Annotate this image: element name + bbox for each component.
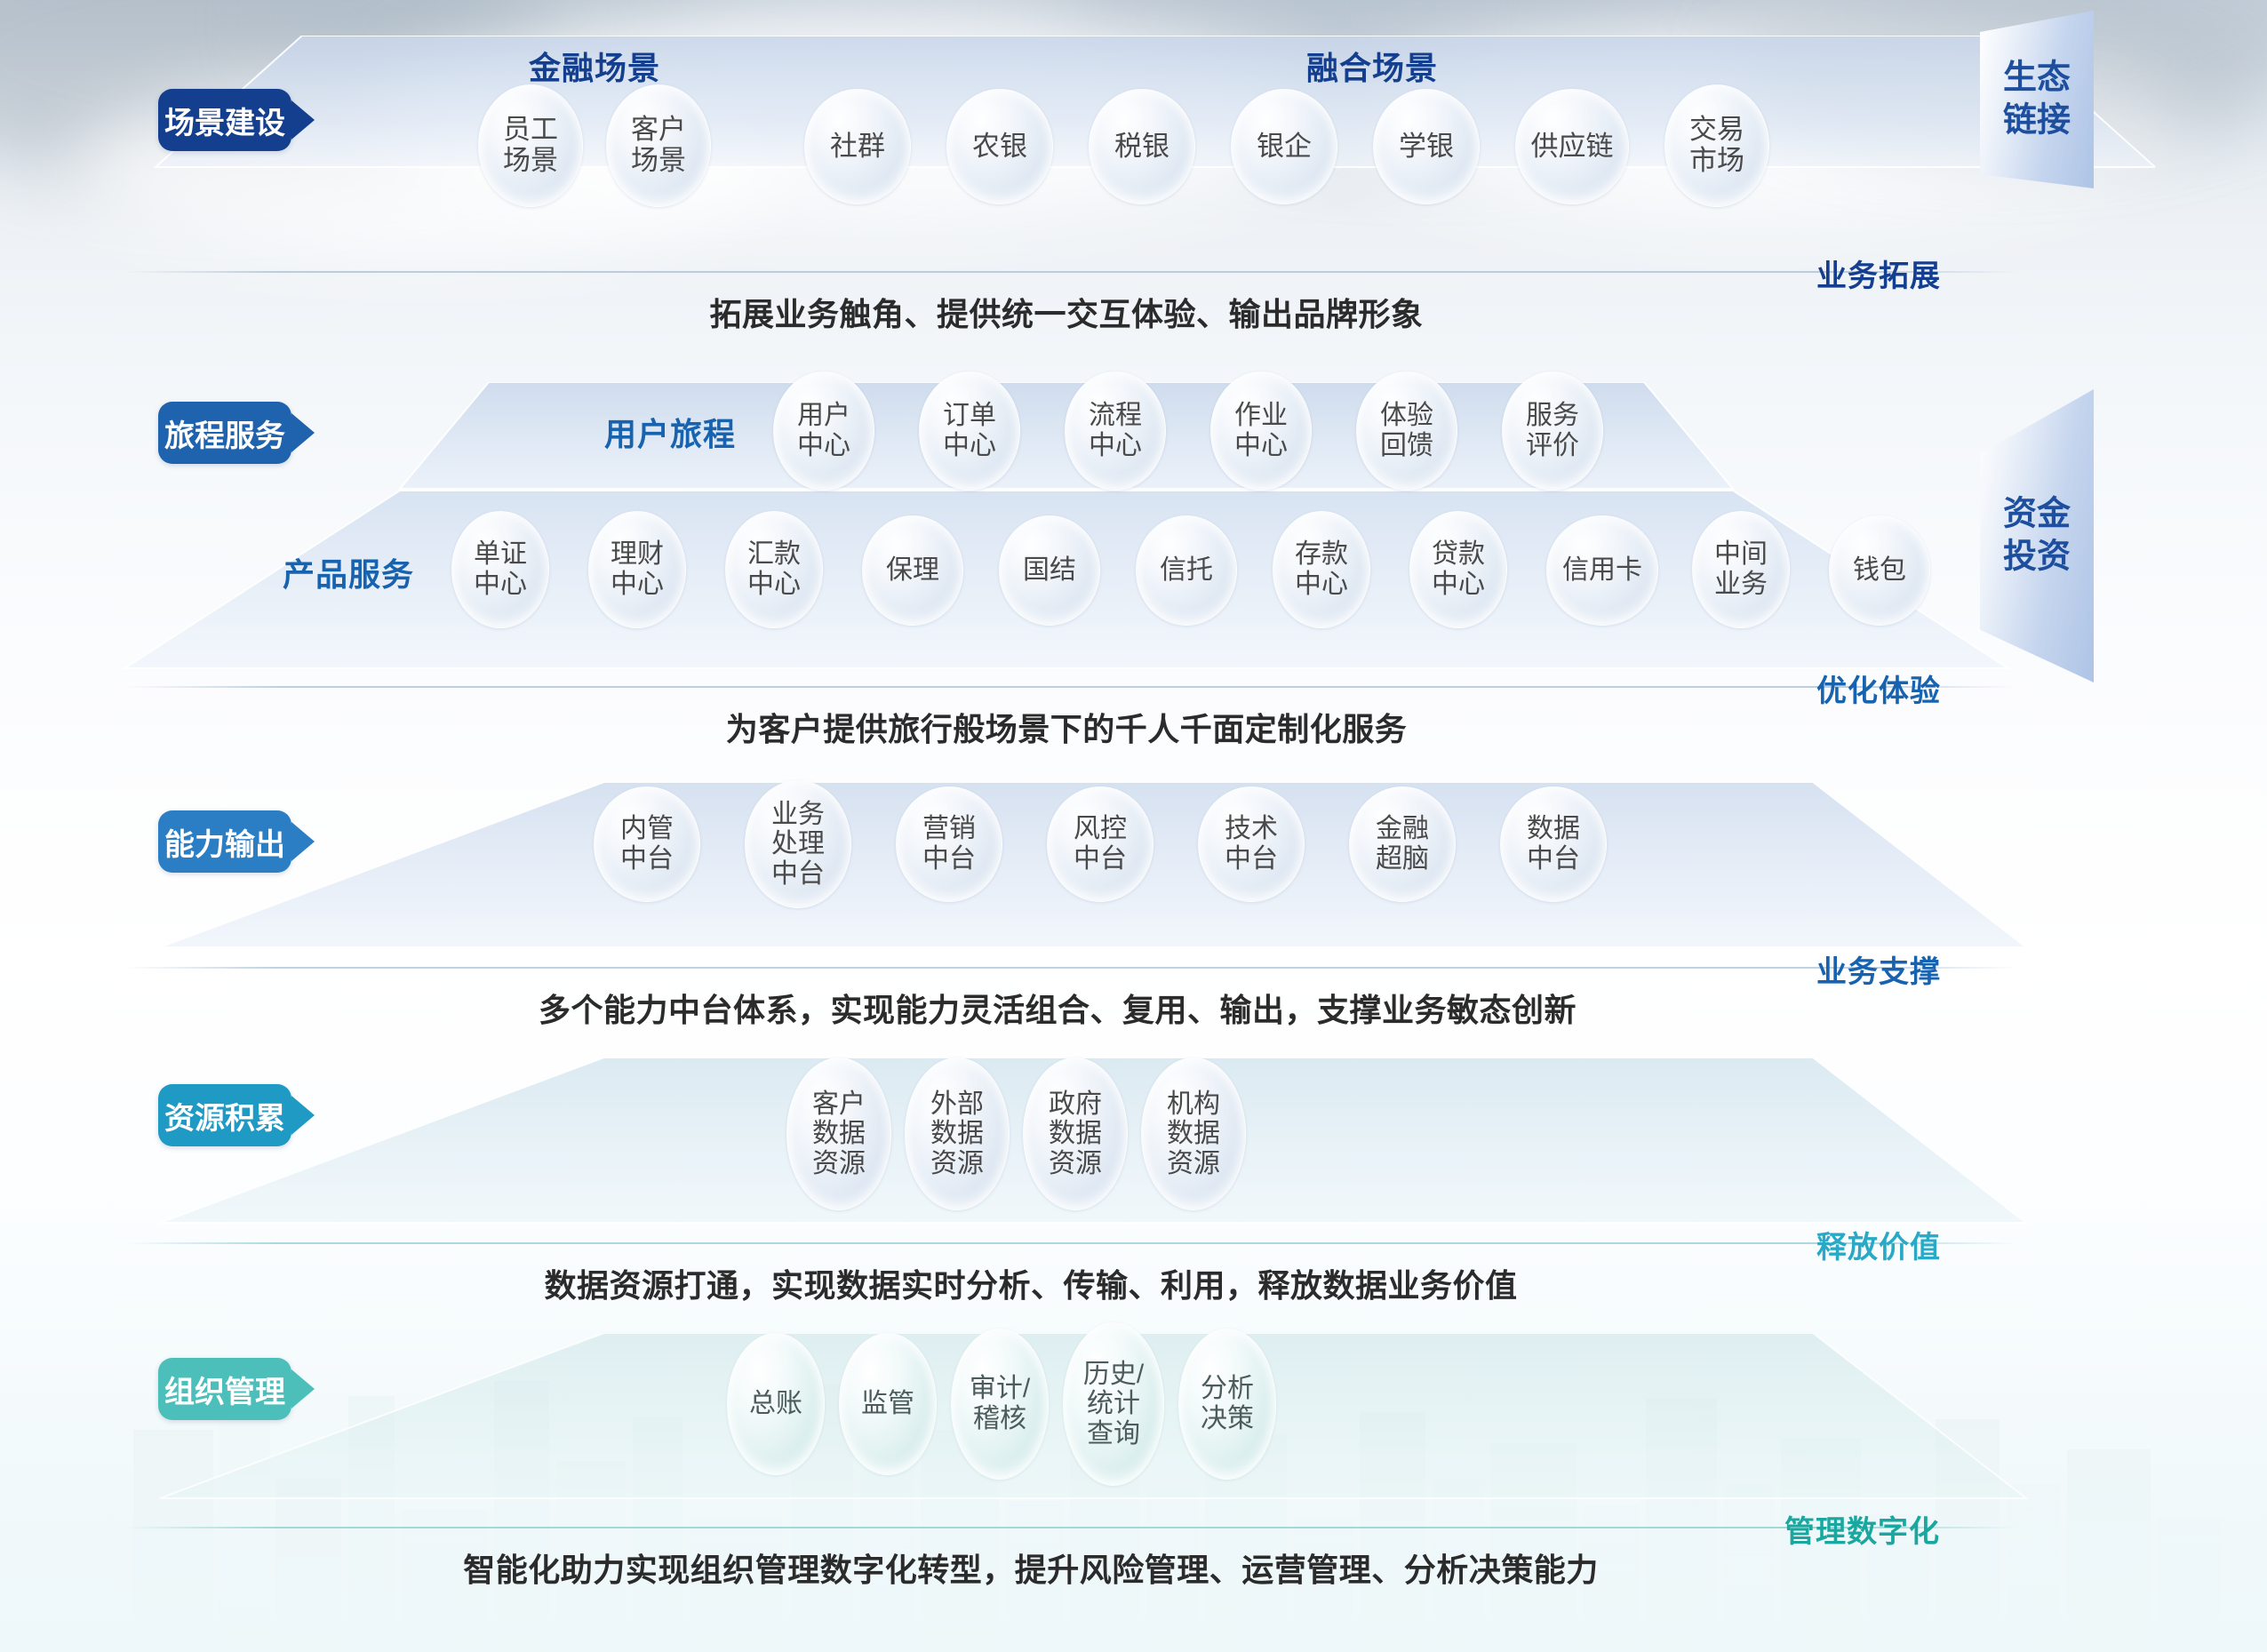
node-trust[interactable]: 信托 [1136, 515, 1237, 626]
tier-badge-2[interactable]: 旅程服务 [158, 402, 291, 464]
tier-badge-1[interactable]: 场景建设 [158, 89, 291, 151]
node-analysis-decision[interactable]: 分析决策 [1178, 1329, 1276, 1480]
tier-badge-label: 旅程服务 [164, 411, 285, 455]
node-general-ledger[interactable]: 总账 [727, 1333, 825, 1475]
node-deposit-center[interactable]: 存款中心 [1273, 511, 1370, 628]
node-external-data-resource[interactable]: 外部数据资源 [905, 1057, 1010, 1210]
node-bank-enterprise[interactable]: 银企 [1231, 89, 1337, 204]
node-label: 数据中台 [1521, 814, 1585, 874]
node-marketing-platform[interactable]: 营销中台 [896, 786, 1002, 902]
ribbon-label: 生态链接 [1980, 58, 2094, 142]
node-operation-center[interactable]: 作业中心 [1210, 371, 1312, 491]
node-wealth-center[interactable]: 理财中心 [588, 511, 686, 628]
node-label: 银企 [1251, 132, 1317, 163]
diagram-stage: 场景建设 金融场景 融合场景 员工场景 客户场景 社群 农银 税银 银企 学银 … [0, 0, 2267, 1652]
node-label: 钱包 [1848, 555, 1912, 586]
node-label: 贷款中心 [1426, 539, 1490, 599]
node-risk-control-platform[interactable]: 风控中台 [1047, 786, 1153, 902]
tier-slab-4 [124, 1057, 2155, 1226]
node-wallet[interactable]: 钱包 [1829, 515, 1930, 626]
node-label: 保理 [881, 555, 945, 586]
node-label: 服务评价 [1521, 401, 1585, 460]
node-label: 学银 [1393, 132, 1459, 163]
tier-separator-3 [124, 967, 2017, 969]
node-experience-feedback[interactable]: 体验回馈 [1356, 371, 1457, 491]
node-label: 客户场景 [626, 115, 691, 176]
node-user-center[interactable]: 用户中心 [773, 371, 874, 491]
node-label: 作业中心 [1229, 401, 1293, 460]
node-remittance-center[interactable]: 汇款中心 [725, 511, 823, 628]
node-label: 社群 [825, 132, 890, 163]
node-label: 业务处理中台 [766, 800, 830, 890]
tier-caption-5: 智能化助力实现组织管理数字化转型，提升风险管理、运营管理、分析决策能力 [0, 1544, 2062, 1591]
node-label: 汇款中心 [742, 539, 806, 599]
node-label: 流程中心 [1083, 401, 1147, 460]
node-order-center[interactable]: 订单中心 [919, 371, 1020, 491]
tier-badge-label: 能力输出 [164, 820, 285, 864]
node-label: 订单中心 [938, 401, 1002, 460]
node-credit-card[interactable]: 信用卡 [1546, 515, 1658, 626]
tier-badge-label: 资源积累 [164, 1094, 285, 1137]
node-label: 理财中心 [605, 539, 669, 599]
node-label: 供应链 [1526, 132, 1619, 163]
tier-badge-5[interactable]: 组织管理 [158, 1358, 291, 1420]
node-loan-center[interactable]: 贷款中心 [1409, 511, 1507, 628]
node-label: 国结 [1018, 555, 1082, 586]
tier-caption-1: 拓展业务触角、提供统一交互体验、输出品牌形象 [0, 289, 2133, 335]
tier-separator-1 [124, 271, 2017, 273]
tier-badge-3[interactable]: 能力输出 [158, 810, 291, 873]
node-institution-data-resource[interactable]: 机构数据资源 [1141, 1057, 1246, 1210]
ribbon-label: 资金投资 [1980, 494, 2094, 579]
group-label-integrated-scenarios: 融合场景 [1306, 43, 1438, 89]
node-label: 营销中台 [917, 814, 981, 874]
node-label: 税银 [1109, 132, 1175, 163]
tier-caption-3: 多个能力中台体系，实现能力灵活组合、复用、输出，支撑业务敏态创新 [0, 985, 2115, 1031]
node-agri-bank[interactable]: 农银 [946, 89, 1053, 204]
node-document-center[interactable]: 单证中心 [451, 511, 549, 628]
node-label: 存款中心 [1289, 539, 1353, 599]
node-label: 农银 [967, 132, 1033, 163]
node-label: 信托 [1154, 555, 1218, 586]
node-factoring[interactable]: 保理 [862, 515, 963, 626]
node-customer-scenario[interactable]: 客户场景 [606, 84, 711, 207]
node-label: 员工场景 [498, 115, 563, 176]
node-label: 监管 [856, 1389, 920, 1419]
group-label-user-journey: 用户旅程 [604, 409, 736, 455]
ribbon-ecosystem-link: 生态链接 [1980, 11, 2094, 188]
tier-caption-4: 数据资源打通，实现数据实时分析、传输、利用，释放数据业务价值 [0, 1260, 2062, 1306]
node-internal-mgmt-platform[interactable]: 内管中台 [594, 786, 700, 902]
tier-badge-label: 组织管理 [164, 1368, 285, 1411]
node-label: 总账 [744, 1389, 808, 1419]
node-financial-brain[interactable]: 金融超脑 [1349, 786, 1456, 902]
node-label: 风控中台 [1068, 814, 1132, 874]
node-label: 技术中台 [1219, 814, 1283, 874]
node-supervision[interactable]: 监管 [839, 1333, 937, 1475]
node-label: 客户数据资源 [807, 1089, 871, 1179]
node-business-processing-platform[interactable]: 业务处理中台 [745, 780, 851, 908]
node-technology-platform[interactable]: 技术中台 [1198, 786, 1305, 902]
node-community[interactable]: 社群 [804, 89, 911, 204]
tier-badge-4[interactable]: 资源积累 [158, 1084, 291, 1146]
node-label: 审计/稽核 [964, 1374, 1035, 1433]
tier-separator-4 [124, 1242, 2017, 1244]
tier-separator-5 [124, 1527, 2017, 1528]
group-label-financial-scenarios: 金融场景 [529, 43, 660, 89]
node-tax-bank[interactable]: 税银 [1089, 89, 1195, 204]
node-audit-inspection[interactable]: 审计/稽核 [951, 1329, 1049, 1480]
node-label: 外部数据资源 [925, 1089, 989, 1179]
node-label: 单证中心 [468, 539, 532, 599]
node-supply-chain[interactable]: 供应链 [1515, 89, 1629, 204]
node-label: 交易市场 [1684, 115, 1750, 176]
node-label: 内管中台 [615, 814, 679, 874]
node-service-rating[interactable]: 服务评价 [1502, 371, 1603, 491]
tier-separator-2 [124, 686, 2017, 688]
ribbon-capital-investment: 资金投资 [1980, 389, 2094, 682]
node-government-data-resource[interactable]: 政府数据资源 [1023, 1057, 1128, 1210]
node-intl-settlement[interactable]: 国结 [999, 515, 1100, 626]
node-school-bank[interactable]: 学银 [1373, 89, 1480, 204]
node-label: 体验回馈 [1375, 401, 1439, 460]
node-label: 分析决策 [1195, 1374, 1259, 1433]
node-process-center[interactable]: 流程中心 [1065, 371, 1166, 491]
node-label: 信用卡 [1557, 555, 1648, 586]
node-label: 机构数据资源 [1161, 1089, 1225, 1179]
node-label: 用户中心 [792, 401, 856, 460]
node-label: 中间业务 [1709, 539, 1773, 599]
group-label-product-service: 产品服务 [283, 549, 414, 595]
node-data-platform[interactable]: 数据中台 [1500, 786, 1607, 902]
node-history-statistics-query[interactable]: 历史/统计查询 [1063, 1322, 1164, 1486]
node-customer-data-resource[interactable]: 客户数据资源 [786, 1057, 891, 1210]
node-label: 金融超脑 [1370, 814, 1434, 874]
node-intermediary-business[interactable]: 中间业务 [1692, 511, 1790, 628]
node-label: 政府数据资源 [1043, 1089, 1107, 1179]
node-employee-scenario[interactable]: 员工场景 [478, 84, 583, 207]
node-trading-market[interactable]: 交易市场 [1664, 84, 1769, 207]
tier-caption-2: 为客户提供旅行般场景下的千人千面定制化服务 [0, 704, 2133, 750]
node-label: 历史/统计查询 [1078, 1360, 1149, 1449]
tier-badge-label: 场景建设 [164, 99, 285, 142]
